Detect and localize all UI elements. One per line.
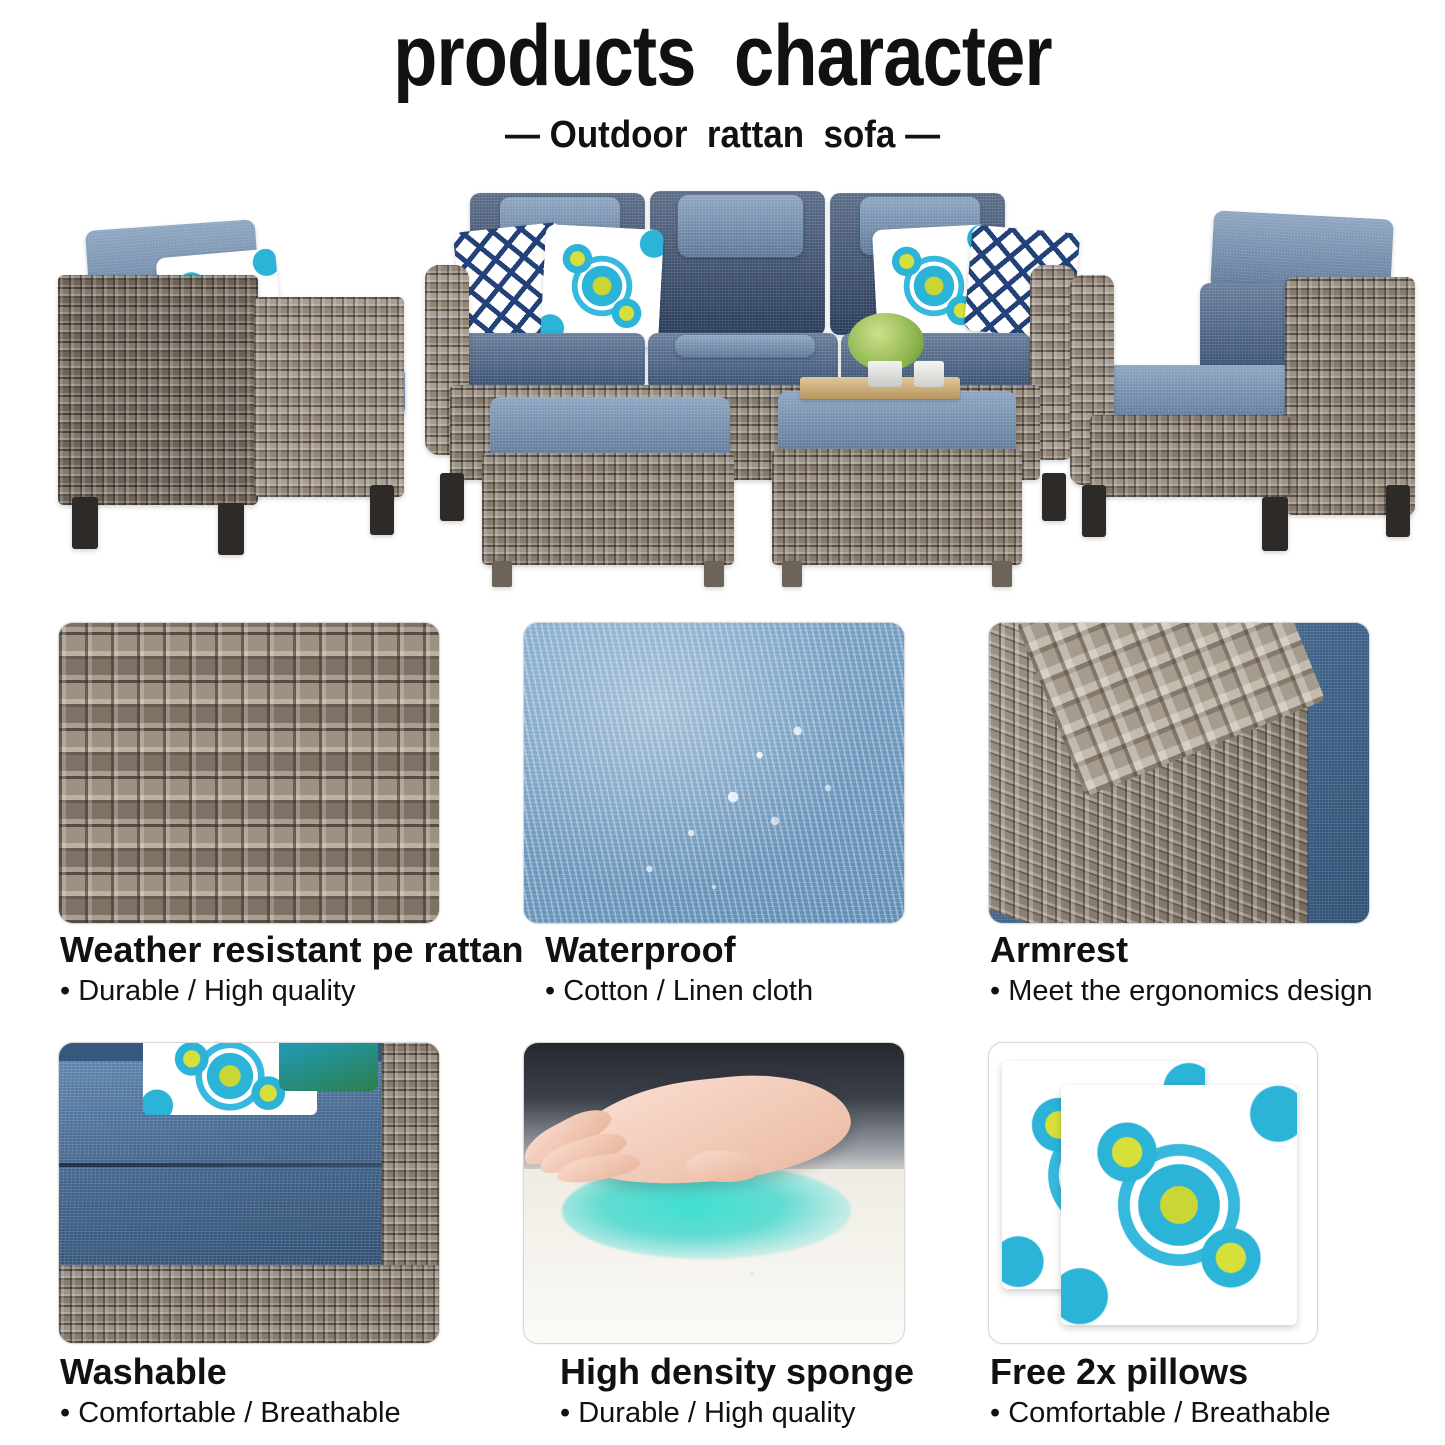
armrest-scene xyxy=(989,623,1369,923)
ottoman-cushion xyxy=(490,397,730,459)
memory-foam-scene xyxy=(524,1043,904,1343)
chair-leg xyxy=(1262,497,1288,551)
chair-base xyxy=(1090,415,1290,497)
rattan-base xyxy=(59,1265,439,1343)
thumb xyxy=(685,1150,759,1183)
ottoman-base xyxy=(482,453,734,565)
feature-detail-washable: • Comfortable / Breathable xyxy=(60,1396,401,1430)
feature-image-free-pillows xyxy=(988,1042,1318,1344)
feature-image-washable xyxy=(58,1042,440,1344)
sofa-leg xyxy=(440,473,464,521)
chair-side-panel xyxy=(58,275,258,505)
feature-title-armrest: Armrest xyxy=(990,930,1128,970)
feature-image-waterproof xyxy=(523,622,905,924)
feature-detail-high-density-sponge: • Durable / High quality xyxy=(560,1396,855,1430)
ottoman-leg xyxy=(704,561,724,587)
sofa-back-highlight xyxy=(678,195,803,257)
water-beading-texture xyxy=(524,623,904,923)
ottoman-leg xyxy=(782,561,802,587)
chair-side-panel xyxy=(1285,277,1415,515)
feature-detail-free-pillows: • Comfortable / Breathable xyxy=(990,1396,1331,1430)
feature-title-waterproof: Waterproof xyxy=(545,930,736,970)
rattan-weave-texture xyxy=(59,623,439,923)
chair-leg xyxy=(72,497,98,549)
chair-leg xyxy=(1082,485,1106,537)
feature-detail-weather-resistant: • Durable / High quality xyxy=(60,974,355,1008)
chair-arm-panel xyxy=(254,297,404,497)
feature-title-free-pillows: Free 2x pillows xyxy=(990,1352,1248,1392)
feature-detail-armrest: • Meet the ergonomics design xyxy=(990,974,1373,1008)
feature-image-weather-resistant xyxy=(58,622,440,924)
pillow-pair-scene xyxy=(989,1043,1317,1343)
page-title: products character xyxy=(116,8,1330,104)
ottoman-cushion xyxy=(778,391,1016,455)
sofa-suzani-pillow xyxy=(540,224,664,348)
ottoman-leg xyxy=(492,561,512,587)
plant-pot xyxy=(868,361,902,387)
cushion-seam xyxy=(59,1163,386,1167)
feature-title-high-density-sponge: High density sponge xyxy=(560,1352,914,1392)
washable-scene xyxy=(59,1043,439,1343)
cup xyxy=(914,361,944,387)
sofa-seat-cushion xyxy=(455,333,645,391)
ottoman-leg xyxy=(992,561,1012,587)
chair-leg xyxy=(1386,485,1410,537)
pillow-front xyxy=(1061,1085,1297,1325)
infographic-page: products character — Outdoor rattan sofa… xyxy=(0,0,1445,1445)
accent-pillow-secondary xyxy=(279,1042,378,1091)
hero-product-photo xyxy=(30,185,1415,585)
ottoman-base xyxy=(772,449,1022,565)
feature-title-weather-resistant: Weather resistant pe rattan xyxy=(60,930,523,970)
chair-leg xyxy=(218,503,244,555)
feature-detail-waterproof: • Cotton / Linen cloth xyxy=(545,974,813,1008)
page-subtitle: — Outdoor rattan sofa — xyxy=(58,112,1387,158)
sofa-seat-highlight xyxy=(675,335,815,357)
feature-image-high-density-sponge xyxy=(523,1042,905,1344)
chair-leg xyxy=(370,485,394,535)
feature-title-washable: Washable xyxy=(60,1352,227,1392)
feature-image-armrest xyxy=(988,622,1370,924)
sofa-leg xyxy=(1042,473,1066,521)
